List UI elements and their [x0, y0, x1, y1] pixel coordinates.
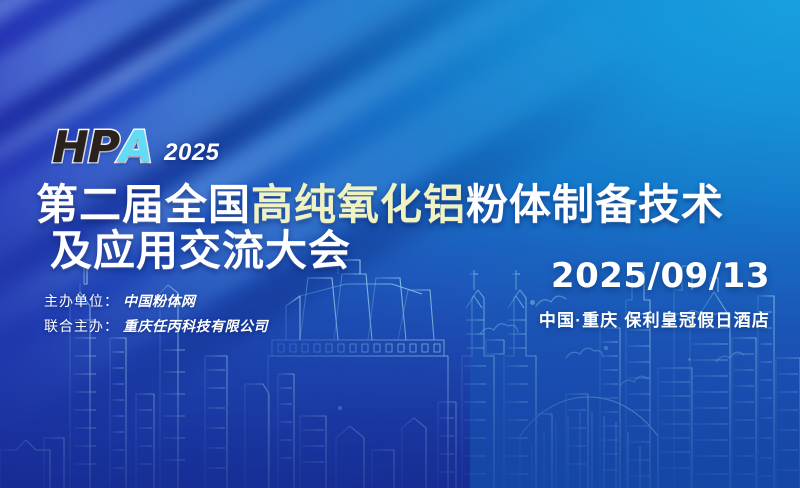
logo-a-text: A: [119, 126, 152, 170]
title-segment-2: 粉体制备技术: [466, 180, 724, 229]
title-highlight-segment: 高纯氧化铝: [251, 180, 466, 229]
event-venue: 中国·重庆 保利皇冠假日酒店: [539, 306, 770, 331]
title-segment-1: 第二届全国: [36, 180, 251, 229]
organizer-row: 主办单位： 中国粉体网: [44, 292, 268, 310]
organizer-label: 主办单位：: [44, 292, 119, 310]
event-date: 2025/09/13: [539, 256, 770, 296]
event-details: 2025/09/13 中国·重庆 保利皇冠假日酒店: [539, 256, 770, 331]
banner-content: HP A 2025 第二届全国高纯氧化铝粉体制备技术 及应用交流大会 主办单位：…: [0, 0, 800, 488]
logo-year: 2025: [164, 139, 219, 167]
organizer-value: 中国粉体网: [123, 292, 196, 310]
title-line-1: 第二届全国高纯氧化铝粉体制备技术: [36, 182, 776, 228]
conference-banner: HP A 2025 第二届全国高纯氧化铝粉体制备技术 及应用交流大会 主办单位：…: [0, 0, 800, 488]
organizer-label: 联合主办：: [44, 317, 119, 335]
logo-wordmark: HP A: [52, 126, 152, 170]
hpa-logo: HP A 2025: [52, 126, 220, 170]
organizer-value: 重庆任丙科技有限公司: [123, 317, 268, 335]
organizer-block: 主办单位： 中国粉体网 联合主办： 重庆任丙科技有限公司: [44, 292, 268, 342]
organizer-row: 联合主办： 重庆任丙科技有限公司: [44, 317, 268, 335]
logo-hp-text: HP: [52, 126, 119, 170]
